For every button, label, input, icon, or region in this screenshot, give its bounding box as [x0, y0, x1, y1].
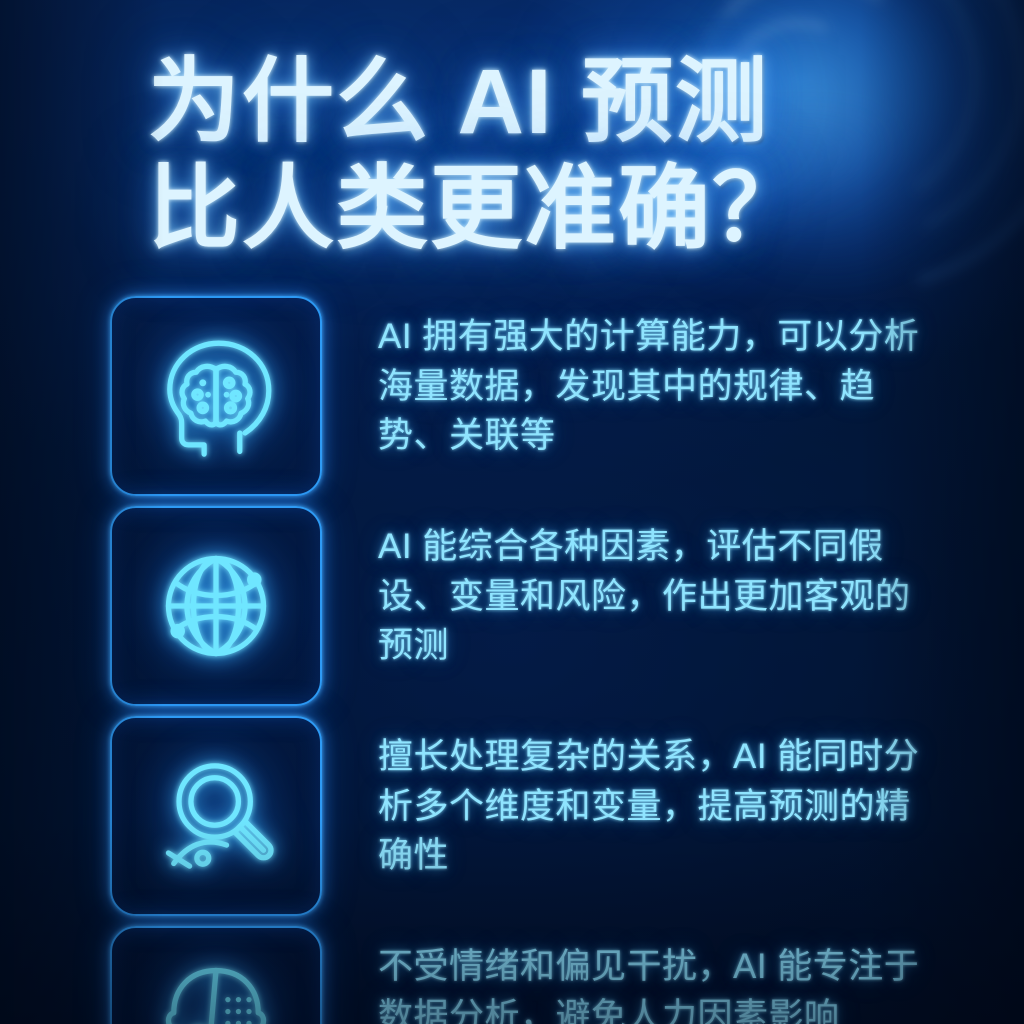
- list-item: AI 拥有强大的计算能力，可以分析海量数据，发现其中的规律、趋势、关联等: [0, 296, 1024, 500]
- list-item: 擅长处理复杂的关系，AI 能同时分析多个维度和变量，提高预测的精确性: [0, 716, 1024, 920]
- human-ai-face-icon: [150, 960, 282, 1024]
- icon-frame-3: [110, 716, 322, 916]
- magnifier-chart-icon: [150, 750, 282, 882]
- title-line-1: 为什么 AI 预测: [148, 49, 908, 156]
- infographic-poster: 为什么 AI 预测 比人类更准确？: [0, 0, 1024, 1024]
- page-title: 为什么 AI 预测 比人类更准确？: [148, 49, 908, 262]
- list-item-text: 不受情绪和偏见干扰，AI 能专注于数据分析，避免人力因素影响: [378, 926, 944, 1024]
- icon-frame-2: [110, 506, 322, 706]
- list-item: 不受情绪和偏见干扰，AI 能专注于数据分析，避免人力因素影响: [0, 926, 1024, 1024]
- globe-network-icon: [150, 540, 282, 672]
- list-item-text: AI 拥有强大的计算能力，可以分析海量数据，发现其中的规律、趋势、关联等: [378, 296, 944, 461]
- icon-frame-1: [110, 296, 322, 496]
- title-line-2: 比人类更准确？: [148, 156, 908, 263]
- icon-frame-4: [110, 926, 322, 1024]
- reason-list: AI 拥有强大的计算能力，可以分析海量数据，发现其中的规律、趋势、关联等: [0, 296, 1024, 1024]
- list-item-text: AI 能综合各种因素，评估不同假设、变量和风险，作出更加客观的预测: [378, 506, 944, 671]
- list-item: AI 能综合各种因素，评估不同假设、变量和风险，作出更加客观的预测: [0, 506, 1024, 710]
- list-item-text: 擅长处理复杂的关系，AI 能同时分析多个维度和变量，提高预测的精确性: [378, 716, 944, 881]
- brain-head-icon: [150, 330, 282, 462]
